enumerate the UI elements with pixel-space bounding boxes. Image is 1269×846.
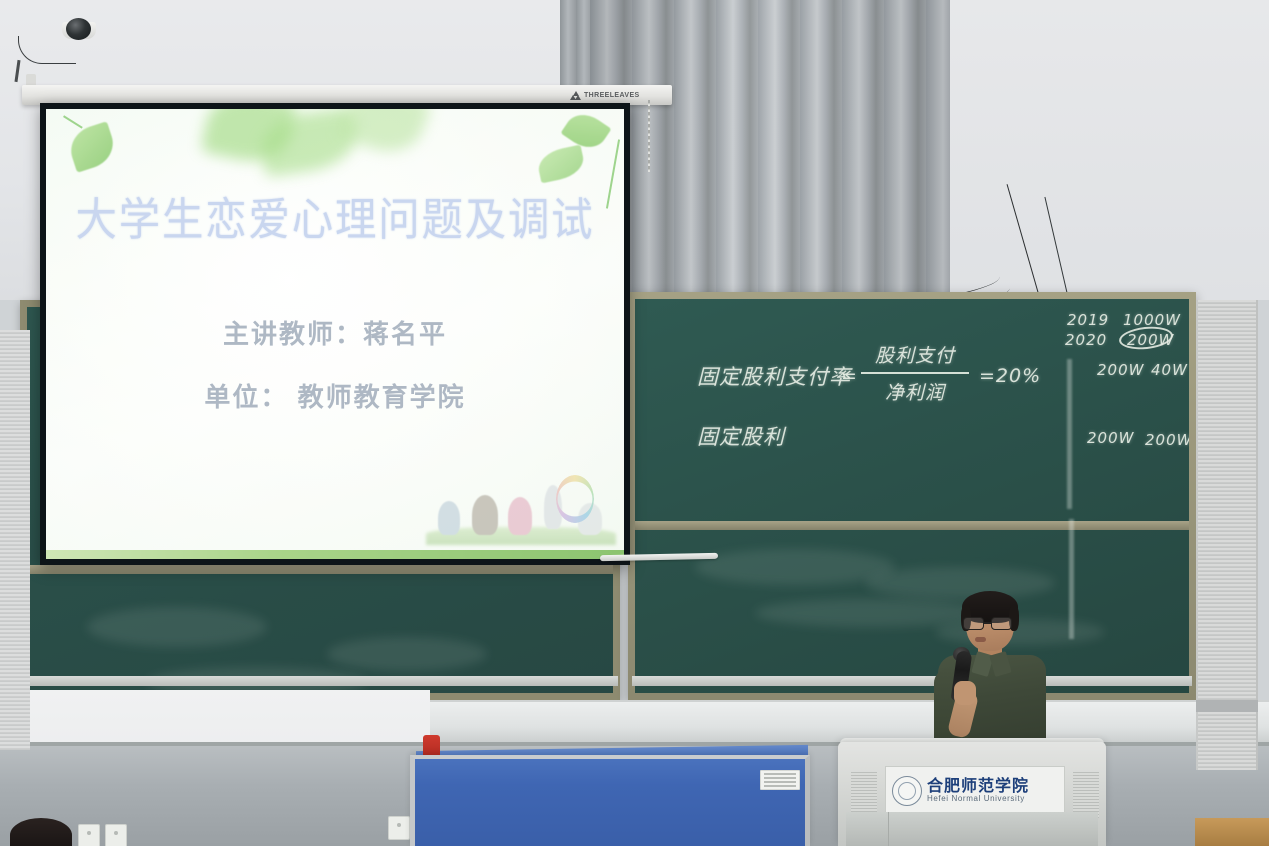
blue-desk[interactable] [410,755,810,846]
photo-person [472,495,498,535]
screen-brand: THREELEAVES [570,88,670,102]
security-camera-icon [66,18,91,40]
chalk-figure-r2c2: 200W [1145,431,1189,449]
chalk-figure-r2c1: 200W [1087,429,1134,447]
slide-title: 大学生恋爱心理问题及调试 [69,183,601,248]
glasses-icon [963,617,1017,630]
chalk-figure-r1c2: 40W [1151,361,1188,379]
chalk-figure-r1c1: 200W [1097,361,1144,379]
chalk-result: =20% [979,365,1041,387]
podium-seam [888,812,889,846]
screen-pull-chain [648,100,650,172]
rainbow-hoop-icon [556,475,594,523]
chalk-tray-right [632,676,1192,686]
slide-footer-bar [46,550,624,559]
chalk-equals: = [841,365,858,387]
university-name-en: Hefei Normal University [927,795,1029,803]
chalk-note-year-1: 2019 [1067,311,1109,329]
chalk-numerator: 股利支付 [861,341,969,368]
wall-vent-band [1196,700,1258,712]
audience-head [10,818,72,846]
photo-person [438,501,460,535]
podium-base [846,812,1098,846]
chalk-tray-left [24,676,618,686]
slide-surface: 大学生恋爱心理问题及调试 主讲教师：蒋名平 单位： 教师教育学院 [46,109,624,559]
slide-photo [426,473,616,545]
university-name-cn: 合肥师范学院 [927,778,1029,795]
fraction-bar [861,372,969,374]
university-nameplate: 合肥师范学院 Hefei Normal University [885,766,1065,816]
lecture-hall-photo: 固定股利支付率 = 股利支付 净利润 =20% 固定股利 2019 1000W … [0,0,1269,846]
presenter-mouth [975,637,986,642]
presenter [930,595,1050,750]
presenter-hand [954,681,976,705]
chalk-second-line: 固定股利 [697,421,785,451]
wall-vent-left [0,330,30,750]
screen-brand-label: THREELEAVES [584,92,640,99]
chalk-note-year-2: 2020 [1065,331,1107,349]
photo-person [508,497,532,535]
desk-label [760,770,800,790]
projection-screen: 大学生恋爱心理问题及调试 主讲教师：蒋名平 单位： 教师教育学院 [40,103,630,565]
power-outlet[interactable] [388,816,410,840]
blackboard-right: 固定股利支付率 = 股利支付 净利润 =20% 固定股利 2019 1000W … [628,292,1196,700]
triangle-logo-icon [570,91,581,100]
curtain-shadow [590,0,950,300]
wooden-chair[interactable] [1195,818,1269,846]
slide-speaker-line: 主讲教师：蒋名平 [46,314,624,351]
power-outlet[interactable] [105,824,127,846]
chalk-denominator: 净利润 [861,378,969,405]
chalk-formula-label: 固定股利支付率 [697,361,851,391]
power-outlet[interactable] [78,824,100,846]
slide-unit-line: 单位： 教师教育学院 [46,377,624,414]
university-seal-icon [892,776,922,806]
